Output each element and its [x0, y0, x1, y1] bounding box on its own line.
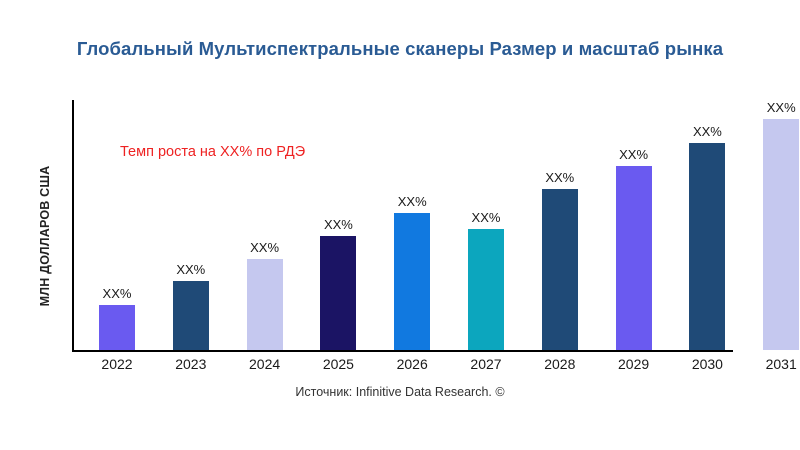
x-axis-tick-labels: 2022202320242025202620272028202920302031 — [72, 356, 800, 378]
bar-value-label: XX% — [230, 240, 300, 255]
bar-2031[interactable] — [763, 119, 799, 350]
x-tick-2028: 2028 — [525, 356, 595, 372]
x-tick-2025: 2025 — [303, 356, 373, 372]
bar-value-label: XX% — [156, 262, 226, 277]
bar-2023[interactable] — [173, 281, 209, 350]
x-tick-2026: 2026 — [377, 356, 447, 372]
plot-area: Темп роста на XX% по РДЭ XX%XX%XX%XX%XX%… — [72, 100, 800, 350]
bar-value-label: XX% — [377, 194, 447, 209]
bar-value-label: XX% — [451, 210, 521, 225]
bar-2029[interactable] — [616, 166, 652, 350]
bar-value-label: XX% — [525, 170, 595, 185]
x-tick-2024: 2024 — [230, 356, 300, 372]
chart-container: Глобальный Мультиспектральные сканеры Ра… — [0, 0, 800, 450]
source-caption: Источник: Infinitive Data Research. © — [0, 385, 800, 399]
bar-value-label: XX% — [599, 147, 669, 162]
y-axis-label: МЛН ДОЛЛАРОВ США — [38, 71, 60, 401]
bar-2022[interactable] — [99, 305, 135, 350]
x-tick-2023: 2023 — [156, 356, 226, 372]
x-tick-2022: 2022 — [82, 356, 152, 372]
bar-2025[interactable] — [320, 236, 356, 350]
bar-2024[interactable] — [247, 259, 283, 350]
bar-value-label: XX% — [672, 124, 742, 139]
bar-value-label: XX% — [82, 286, 152, 301]
x-tick-2030: 2030 — [672, 356, 742, 372]
bar-2027[interactable] — [468, 229, 504, 350]
bar-series: XX%XX%XX%XX%XX%XX%XX%XX%XX%XX% — [72, 100, 800, 350]
chart-title: Глобальный Мультиспектральные сканеры Ра… — [0, 38, 800, 60]
bar-2030[interactable] — [689, 143, 725, 350]
x-tick-2031: 2031 — [746, 356, 800, 372]
x-tick-2027: 2027 — [451, 356, 521, 372]
x-axis-line — [72, 350, 733, 352]
bar-value-label: XX% — [303, 217, 373, 232]
bar-value-label: XX% — [746, 100, 800, 115]
bar-2028[interactable] — [542, 189, 578, 350]
bar-2026[interactable] — [394, 213, 430, 350]
x-tick-2029: 2029 — [599, 356, 669, 372]
